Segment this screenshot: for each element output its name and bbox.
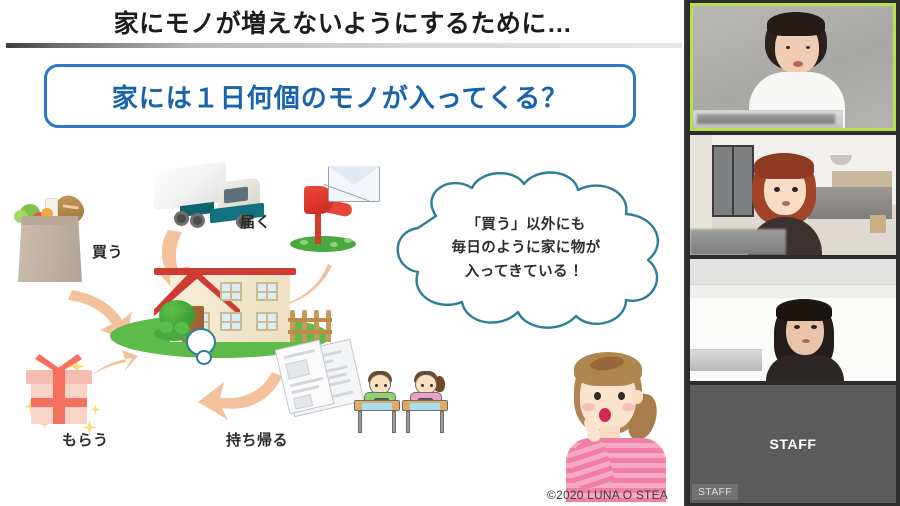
grocery-bag-icon bbox=[12, 194, 88, 282]
label-bring-home: 持ち帰る bbox=[226, 429, 288, 450]
participant-3-torso bbox=[766, 355, 844, 381]
participant-video-rail: STAFF STAFF bbox=[686, 0, 900, 506]
participant-3-mouth bbox=[802, 339, 810, 343]
label-buy: 買う bbox=[92, 241, 123, 262]
label-deliver: 届く bbox=[240, 211, 271, 232]
gift-box-icon bbox=[22, 354, 96, 424]
participant-2-bangs bbox=[754, 153, 814, 179]
thought-bubble-dot-small bbox=[196, 350, 212, 365]
meeting-screen-share-view: 家にモノが増えないようにするために… 家には１日何個のモノが入ってくる？ bbox=[0, 0, 900, 506]
thinking-woman-icon bbox=[556, 350, 682, 502]
participant-2-eye-left bbox=[774, 187, 780, 192]
participant-2-eye-right bbox=[792, 187, 798, 192]
label-receive: もらう bbox=[62, 429, 109, 450]
participant-1-mouth bbox=[793, 61, 803, 67]
participant-1-eye-right bbox=[806, 46, 810, 49]
room-ceiling-3 bbox=[690, 259, 896, 285]
name-badge-4: STAFF bbox=[692, 484, 738, 500]
slide-title: 家にモノが増えないようにするために… bbox=[0, 2, 686, 42]
house-icon bbox=[148, 260, 298, 342]
mailbox-icon bbox=[286, 180, 360, 252]
arrow-kids-to-house bbox=[196, 370, 284, 420]
thought-bubble-text: 「買う」以外にも 毎日のように家に物が 入ってきている ！ bbox=[380, 214, 672, 284]
thought-line-2: 毎日のように家に物が bbox=[380, 237, 672, 260]
participant-2-mouth bbox=[782, 201, 790, 206]
flow-diagram: 買う もらう bbox=[0, 132, 686, 506]
thought-line-3: 入ってきている ！ bbox=[380, 261, 672, 284]
participant-2-blur bbox=[690, 229, 786, 255]
participant-3-eye-left bbox=[794, 325, 800, 329]
participant-3-eye-right bbox=[811, 325, 817, 329]
video-tile-4-camera-off[interactable]: STAFF STAFF bbox=[690, 385, 896, 503]
participant-3-laptop bbox=[690, 349, 762, 371]
video-tile-1[interactable] bbox=[690, 3, 896, 131]
copyright-notice: ©2020 LUNA O STEA bbox=[547, 488, 668, 502]
participant-1-eye-left bbox=[786, 46, 790, 49]
video-tile-2[interactable] bbox=[690, 135, 896, 255]
question-box: 家には１日何個のモノが入ってくる？ bbox=[44, 64, 636, 128]
participant-3-bangs bbox=[776, 299, 832, 321]
participant-1-bangs bbox=[767, 12, 825, 36]
room-wall bbox=[690, 135, 712, 235]
video-tile-3[interactable] bbox=[690, 259, 896, 381]
thought-bubble: 「買う」以外にも 毎日のように家に物が 入ってきている ！ bbox=[380, 170, 672, 334]
camera-off-placeholder-label: STAFF bbox=[769, 436, 816, 452]
participant-1-blur bbox=[697, 114, 835, 124]
envelope-icon bbox=[328, 166, 380, 202]
room-door bbox=[712, 145, 754, 217]
thought-line-1: 「買う」以外にも bbox=[380, 214, 672, 237]
shared-slide[interactable]: 家にモノが増えないようにするために… 家には１日何個のモノが入ってくる？ bbox=[0, 0, 686, 506]
room-stool bbox=[870, 215, 886, 233]
school-kids-icon bbox=[352, 370, 454, 436]
question-box-text: 家には１日何個のモノが入ってくる？ bbox=[112, 78, 568, 115]
title-divider bbox=[6, 43, 682, 48]
